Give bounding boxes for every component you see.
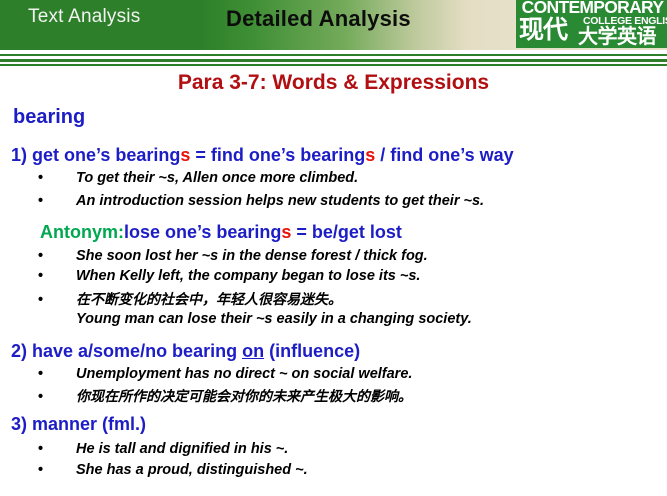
antonym-example-1-text: She soon lost her ~s in the dense forest… <box>76 248 428 264</box>
slide-header-bar: Text Analysis Detailed Analysis CONTEMPO… <box>0 0 667 50</box>
logo-chinese-xiandai: 现代 <box>519 15 567 44</box>
logo-chinese-daxueyingyu: 大学英语 <box>578 25 656 48</box>
antonym-example-3-chinese-text: 在不断变化的社会中，年轻人很容易迷失。 <box>76 292 342 308</box>
entry-1-highlight-s-1: s <box>180 145 190 165</box>
entry-1-heading: 1) get one’s bearings = find one’s beari… <box>11 145 514 166</box>
entry-3-example-2: •She has a proud, distinguished ~. <box>38 462 658 478</box>
bullet-icon: • <box>38 389 76 405</box>
entry-1-example-2-text: An introduction session helps new studen… <box>76 193 484 209</box>
antonym-example-2: •When Kelly left, the company began to l… <box>38 268 658 284</box>
bullet-icon: • <box>38 292 76 308</box>
bullet-icon: • <box>38 268 76 284</box>
entry-3-example-2-text: She has a proud, distinguished ~. <box>76 462 308 478</box>
bullet-icon: • <box>38 366 76 382</box>
entry-2-heading: 2) have a/some/no bearing on (influence) <box>11 341 360 362</box>
entry-2-example-1-text: Unemployment has no direct ~ on social w… <box>76 366 412 382</box>
bullet-icon: • <box>38 248 76 264</box>
entry-1-heading-part-2: = find one’s bearing <box>190 145 365 165</box>
entry-3-example-1: •He is tall and dignified in his ~. <box>38 441 658 457</box>
entry-2-example-2-chinese: •你现在所作的决定可能会对你的未来产生极大的影响。 <box>38 386 658 406</box>
entry-1-heading-part-3: / find one’s way <box>375 145 513 165</box>
antonym-label: Antonym: <box>40 222 124 242</box>
header-divider-line-1 <box>0 54 667 56</box>
antonym-highlight-s: s <box>281 222 291 242</box>
entry-1-example-1: •To get their ~s, Allen once more climbe… <box>38 170 658 186</box>
antonym-heading: Antonym:lose one’s bearings = be/get los… <box>40 222 402 243</box>
entry-2-heading-part-1: 2) have a/some/no bearing <box>11 341 242 361</box>
antonym-example-3-translation-text: Young man can lose their ~s easily in a … <box>76 311 472 327</box>
entry-1-highlight-s-2: s <box>365 145 375 165</box>
header-section-label: Text Analysis <box>28 6 140 28</box>
entry-2-heading-underlined-on: on <box>242 341 264 361</box>
entry-2-example-1: •Unemployment has no direct ~ on social … <box>38 366 658 382</box>
entry-3-example-1-text: He is tall and dignified in his ~. <box>76 441 288 457</box>
antonym-example-3-chinese: •在不断变化的社会中，年轻人很容易迷失。 <box>38 289 658 309</box>
antonym-heading-part-1: lose one’s bearing <box>124 222 281 242</box>
bullet-icon: • <box>38 193 76 209</box>
header-main-title: Detailed Analysis <box>226 6 411 32</box>
antonym-example-1: •She soon lost her ~s in the dense fores… <box>38 248 658 264</box>
antonym-example-3-translation: Young man can lose their ~s easily in a … <box>76 311 667 327</box>
entry-2-heading-part-2: (influence) <box>264 341 360 361</box>
entry-1-heading-part-1: 1) get one’s bearing <box>11 145 180 165</box>
entry-2-example-2-chinese-text: 你现在所作的决定可能会对你的未来产生极大的影响。 <box>76 389 412 405</box>
antonym-heading-part-2: = be/get lost <box>291 222 402 242</box>
entry-1-example-1-text: To get their ~s, Allen once more climbed… <box>76 170 358 186</box>
bullet-icon: • <box>38 441 76 457</box>
headword-bearing: bearing <box>13 106 85 129</box>
antonym-example-2-text: When Kelly left, the company began to lo… <box>76 268 420 284</box>
header-divider-line-2 <box>0 59 667 62</box>
header-divider-line-3 <box>0 64 667 66</box>
entry-3-heading: 3) manner (fml.) <box>11 414 146 435</box>
bullet-icon: • <box>38 170 76 186</box>
bullet-icon: • <box>38 462 76 478</box>
slide-title: Para 3-7: Words & Expressions <box>0 71 667 95</box>
entry-3-heading-text: 3) manner (fml.) <box>11 414 146 434</box>
entry-1-example-2: •An introduction session helps new stude… <box>38 193 658 209</box>
contemporary-college-english-logo: CONTEMPORARY 现代 COLLEGE ENGLISH 大学英语 <box>516 0 667 48</box>
